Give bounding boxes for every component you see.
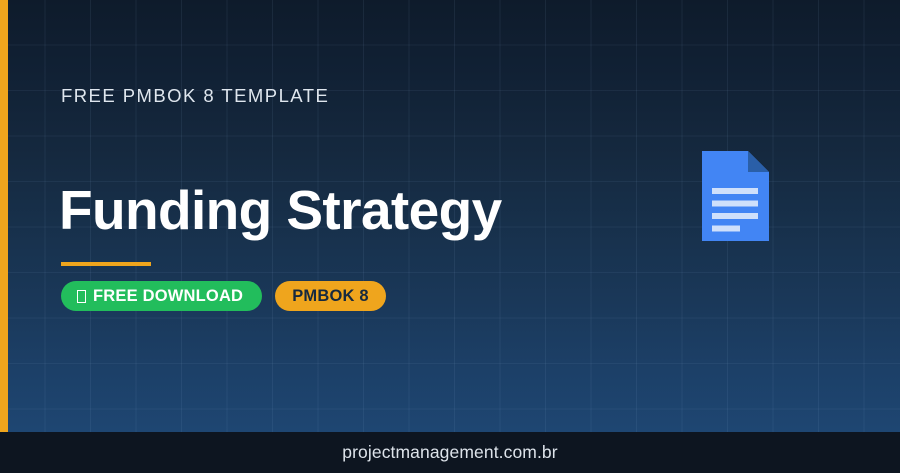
footer-website-url: projectmanagement.com.br xyxy=(342,442,557,463)
page-title: Funding Strategy xyxy=(59,183,502,238)
left-accent-rail xyxy=(0,0,8,432)
footer-bar: projectmanagement.com.br xyxy=(0,432,900,473)
free-download-badge[interactable]: FREE DOWNLOAD xyxy=(61,281,262,311)
free-download-label: FREE DOWNLOAD xyxy=(93,287,243,306)
pmbok-version-badge[interactable]: PMBOK 8 xyxy=(275,281,386,311)
download-icon xyxy=(77,290,86,303)
banner-content: FREE PMBOK 8 TEMPLATE Funding Strategy F… xyxy=(61,0,681,432)
template-promo-banner: FREE PMBOK 8 TEMPLATE Funding Strategy F… xyxy=(0,0,900,473)
eyebrow-label: FREE PMBOK 8 TEMPLATE xyxy=(61,85,329,107)
document-file-icon xyxy=(702,151,769,241)
title-accent-rule xyxy=(61,262,151,266)
badge-group: FREE DOWNLOAD PMBOK 8 xyxy=(61,281,386,311)
pmbok-version-label: PMBOK 8 xyxy=(292,287,369,306)
